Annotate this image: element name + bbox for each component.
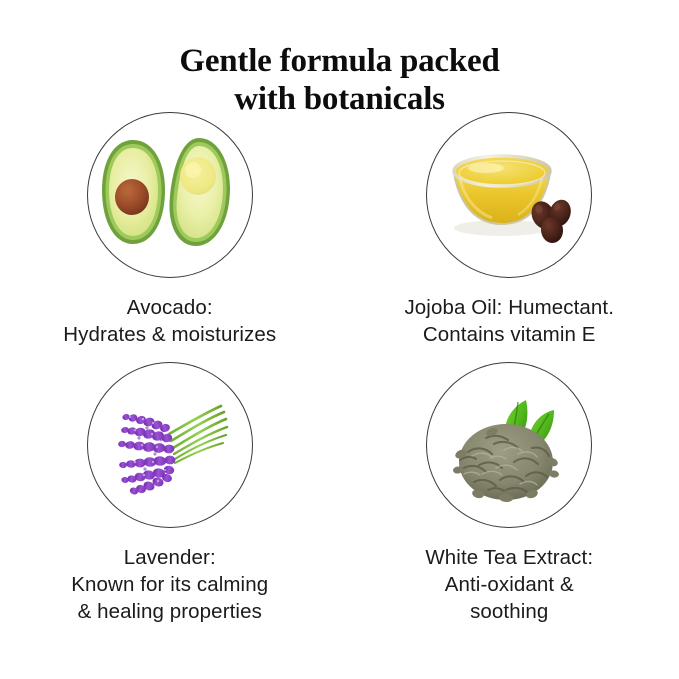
jojoba-oil-circle: [426, 112, 592, 278]
jojoba-oil-icon: [434, 120, 584, 270]
jojoba-oil-caption: Jojoba Oil: Humectant. Contains vitamin …: [404, 294, 614, 348]
infographic-page: Gentle formula packed with botanicals: [0, 0, 679, 679]
caption-line: Avocado:: [63, 294, 276, 321]
avocado-circle: [87, 112, 253, 278]
avocado-icon: [95, 120, 245, 270]
caption-line: & healing properties: [71, 598, 268, 625]
white-tea-icon: [434, 370, 584, 520]
caption-line: Lavender:: [71, 544, 268, 571]
avocado-half-left: [102, 140, 165, 244]
title-line-1: Gentle formula packed: [0, 42, 679, 80]
ingredient-lavender: Lavender: Known for its calming & healin…: [0, 362, 340, 625]
page-title: Gentle formula packed with botanicals: [0, 42, 679, 118]
caption-line: soothing: [425, 598, 593, 625]
avocado-half-right: [169, 138, 230, 246]
caption-line: Hydrates & moisturizes: [63, 321, 276, 348]
lavender-caption: Lavender: Known for its calming & healin…: [71, 544, 268, 625]
white-tea-caption: White Tea Extract: Anti-oxidant & soothi…: [425, 544, 593, 625]
avocado-caption: Avocado: Hydrates & moisturizes: [63, 294, 276, 348]
ingredient-grid: Avocado: Hydrates & moisturizes: [0, 112, 679, 625]
ingredient-row-bottom: Lavender: Known for its calming & healin…: [0, 362, 679, 625]
ingredient-avocado: Avocado: Hydrates & moisturizes: [0, 112, 340, 348]
caption-line: White Tea Extract:: [425, 544, 593, 571]
white-tea-circle: [426, 362, 592, 528]
ingredient-white-tea: White Tea Extract: Anti-oxidant & soothi…: [340, 362, 679, 625]
lavender-stems: [169, 406, 227, 463]
lavender-circle: [87, 362, 253, 528]
ingredient-row-top: Avocado: Hydrates & moisturizes: [0, 112, 679, 348]
ingredient-jojoba-oil: Jojoba Oil: Humectant. Contains vitamin …: [340, 112, 679, 348]
lavender-icon: [95, 370, 245, 520]
caption-line: Jojoba Oil: Humectant.: [404, 294, 614, 321]
lavender-flowers: [118, 413, 176, 495]
caption-line: Known for its calming: [71, 571, 268, 598]
caption-line: Anti-oxidant &: [425, 571, 593, 598]
caption-line: Contains vitamin E: [404, 321, 614, 348]
